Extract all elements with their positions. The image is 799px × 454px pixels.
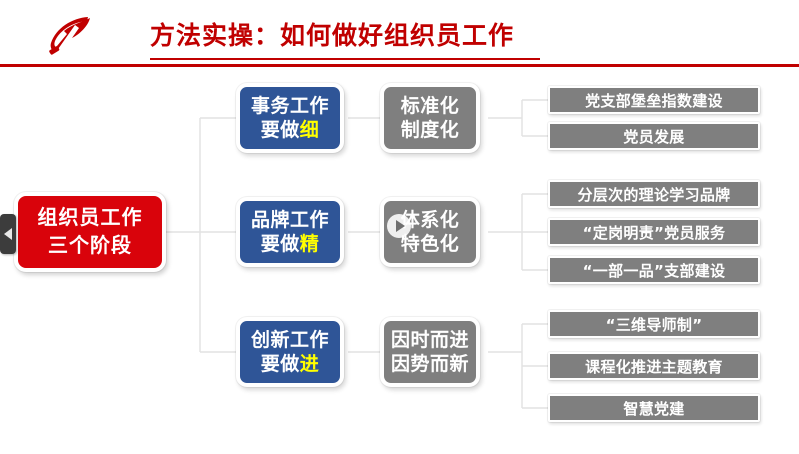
leaf-node-1-2[interactable]: 党员发展	[548, 122, 760, 150]
level2-node-2-line1: 品牌工作	[251, 209, 329, 231]
triangle-left-icon	[4, 228, 12, 240]
level2-node-2-line2: 要做精	[261, 233, 320, 255]
level2-node-2[interactable]: 品牌工作 要做精	[236, 197, 344, 267]
level2-node-1-line2-prefix: 要做	[261, 119, 300, 141]
collapse-panel-tab[interactable]	[0, 214, 16, 254]
level3-node-1[interactable]: 标准化 制度化	[380, 83, 480, 153]
level3-node-1-line1: 标准化	[401, 95, 460, 117]
level2-node-3-line1: 创新工作	[251, 329, 329, 351]
level3-node-1-line2: 制度化	[401, 119, 460, 141]
level2-node-3-line2: 要做进	[261, 353, 320, 375]
level2-node-1-line2: 要做细	[261, 119, 320, 141]
play-icon	[396, 220, 405, 232]
level2-node-2-line2-prefix: 要做	[261, 233, 300, 255]
header-divider	[0, 64, 799, 67]
leaf-node-2-1[interactable]: 分层次的理论学习品牌	[548, 180, 760, 208]
root-node[interactable]: 组织员工作 三个阶段	[14, 192, 166, 272]
level2-node-3[interactable]: 创新工作 要做进	[236, 317, 344, 387]
slide-header: 方法实操：如何做好组织员工作	[0, 0, 799, 66]
hammer-and-sickle-icon	[42, 12, 104, 58]
root-node-line1: 组织员工作	[38, 206, 143, 230]
level2-node-2-line2-highlight: 精	[300, 233, 320, 255]
level3-node-3[interactable]: 因时而进 因势而新	[380, 317, 480, 387]
play-button[interactable]	[387, 214, 411, 238]
level3-node-3-line1: 因时而进	[391, 329, 469, 351]
leaf-node-2-3[interactable]: “一部一品”支部建设	[548, 256, 760, 284]
level2-node-1-line1: 事务工作	[251, 95, 329, 117]
root-node-line2: 三个阶段	[48, 234, 132, 258]
title-underline	[150, 58, 540, 60]
leaf-node-2-2[interactable]: “定岗明责”党员服务	[548, 218, 760, 246]
page-title: 方法实操：如何做好组织员工作	[150, 14, 710, 58]
level3-node-2-line2: 特色化	[401, 233, 460, 255]
level2-node-3-line2-prefix: 要做	[261, 353, 300, 375]
level2-node-1[interactable]: 事务工作 要做细	[236, 83, 344, 153]
leaf-node-3-3[interactable]: 智慧党建	[548, 394, 760, 422]
leaf-node-3-1[interactable]: “三维导师制”	[548, 310, 760, 338]
level2-node-1-line2-highlight: 细	[300, 119, 320, 141]
level2-node-3-line2-highlight: 进	[300, 353, 320, 375]
leaf-node-3-2[interactable]: 课程化推进主题教育	[548, 352, 760, 380]
level3-node-3-line2: 因势而新	[391, 353, 469, 375]
slide-canvas: 方法实操：如何做好组织员工作	[0, 0, 799, 454]
leaf-node-1-1[interactable]: 党支部堡垒指数建设	[548, 86, 760, 114]
